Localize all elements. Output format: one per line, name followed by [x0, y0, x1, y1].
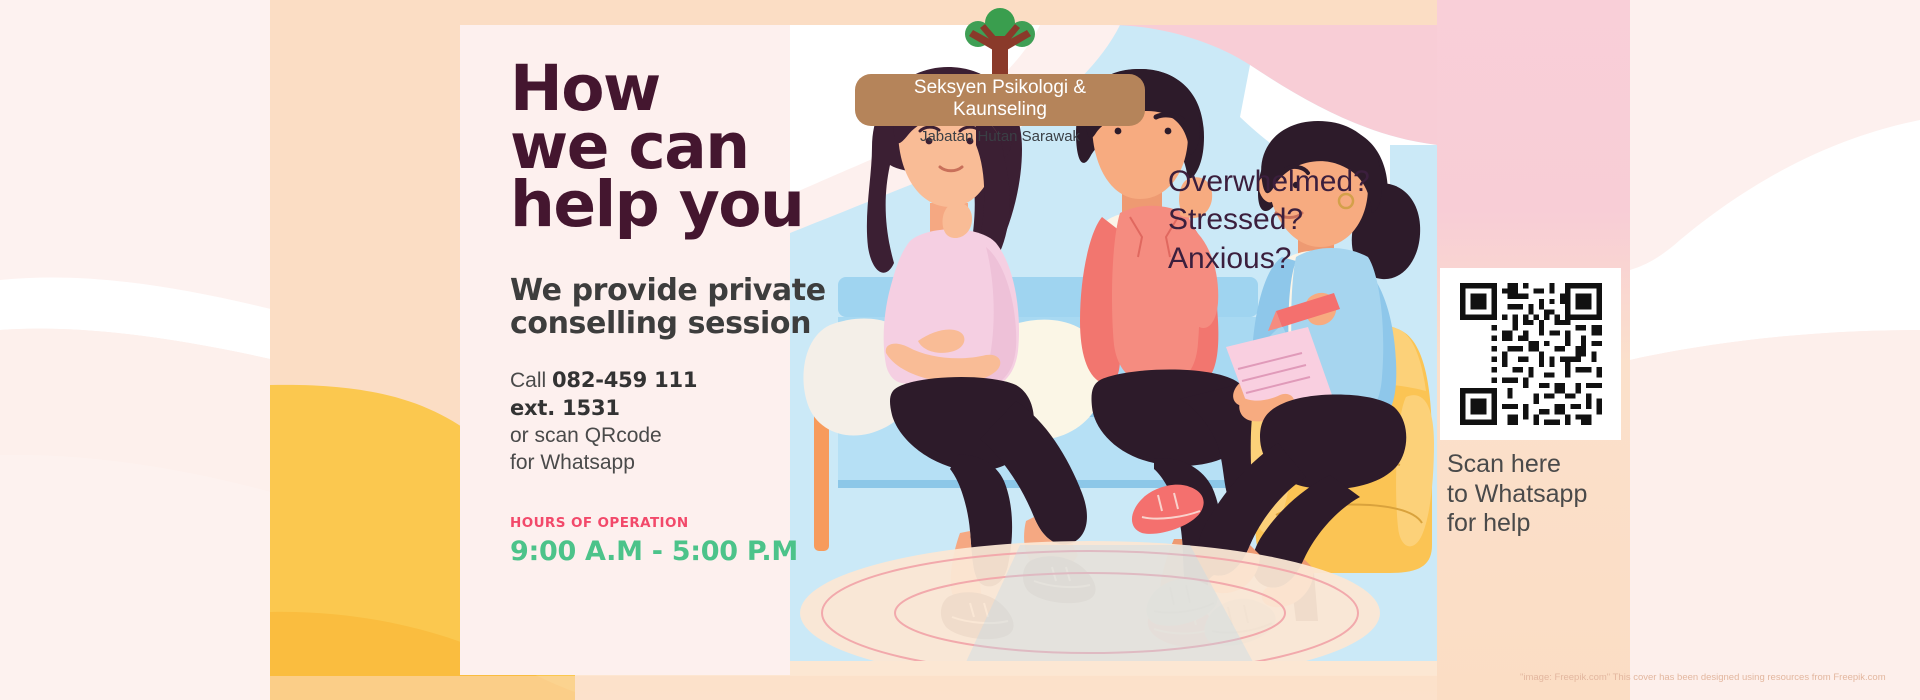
- contact-phone-line: Call 082-459 111: [510, 367, 840, 395]
- subheadline-line-2: conselling session: [510, 307, 840, 341]
- question-line-1: Overwhelmed?: [1168, 163, 1370, 201]
- scan-line-2: to Whatsapp: [1447, 480, 1637, 510]
- image-credit: "image: Freepik.com" This cover has been…: [1520, 672, 1886, 683]
- contact-line-4: for Whatsapp: [510, 450, 840, 477]
- contact-line-3: or scan QRcode: [510, 423, 840, 450]
- question-line-3: Anxious?: [1168, 240, 1370, 278]
- page-title: How we can help you: [510, 60, 840, 234]
- organisation-logo: Seksyen Psikologi & Kaunseling Jabatan H…: [855, 8, 1145, 145]
- contact-block: Call 082-459 111 ext. 1531 or scan QRcod…: [510, 367, 840, 477]
- questions-block: Overwhelmed? Stressed? Anxious?: [1168, 163, 1370, 278]
- scan-line-3: for help: [1447, 509, 1637, 539]
- phone-extension: ext. 1531: [510, 396, 620, 420]
- contact-ext-line: ext. 1531: [510, 395, 840, 423]
- poster-stage: Seksyen Psikologi & Kaunseling Jabatan H…: [0, 0, 1920, 700]
- tree-icon: [945, 8, 1055, 74]
- headline-line-3: help you: [510, 176, 840, 234]
- hours-value: 9:00 A.M - 5:00 P.M: [510, 536, 840, 567]
- left-text-column: How we can help you We provide private c…: [510, 60, 840, 567]
- logo-subtitle: Jabatan Hutan Sarawak: [855, 128, 1145, 145]
- qr-code-icon: [1455, 278, 1607, 430]
- whatsapp-qr-code[interactable]: [1440, 268, 1621, 440]
- subheadline: We provide private conselling session: [510, 274, 840, 341]
- hours-label: HOURS OF OPERATION: [510, 515, 840, 531]
- subheadline-line-1: We provide private: [510, 274, 840, 308]
- phone-number: 082-459 111: [552, 368, 697, 392]
- scan-line-1: Scan here: [1447, 450, 1637, 480]
- scan-instruction: Scan here to Whatsapp for help: [1447, 450, 1637, 539]
- logo-pill-text: Seksyen Psikologi & Kaunseling: [855, 74, 1145, 126]
- call-prefix: Call: [510, 369, 552, 392]
- question-line-2: Stressed?: [1168, 201, 1370, 239]
